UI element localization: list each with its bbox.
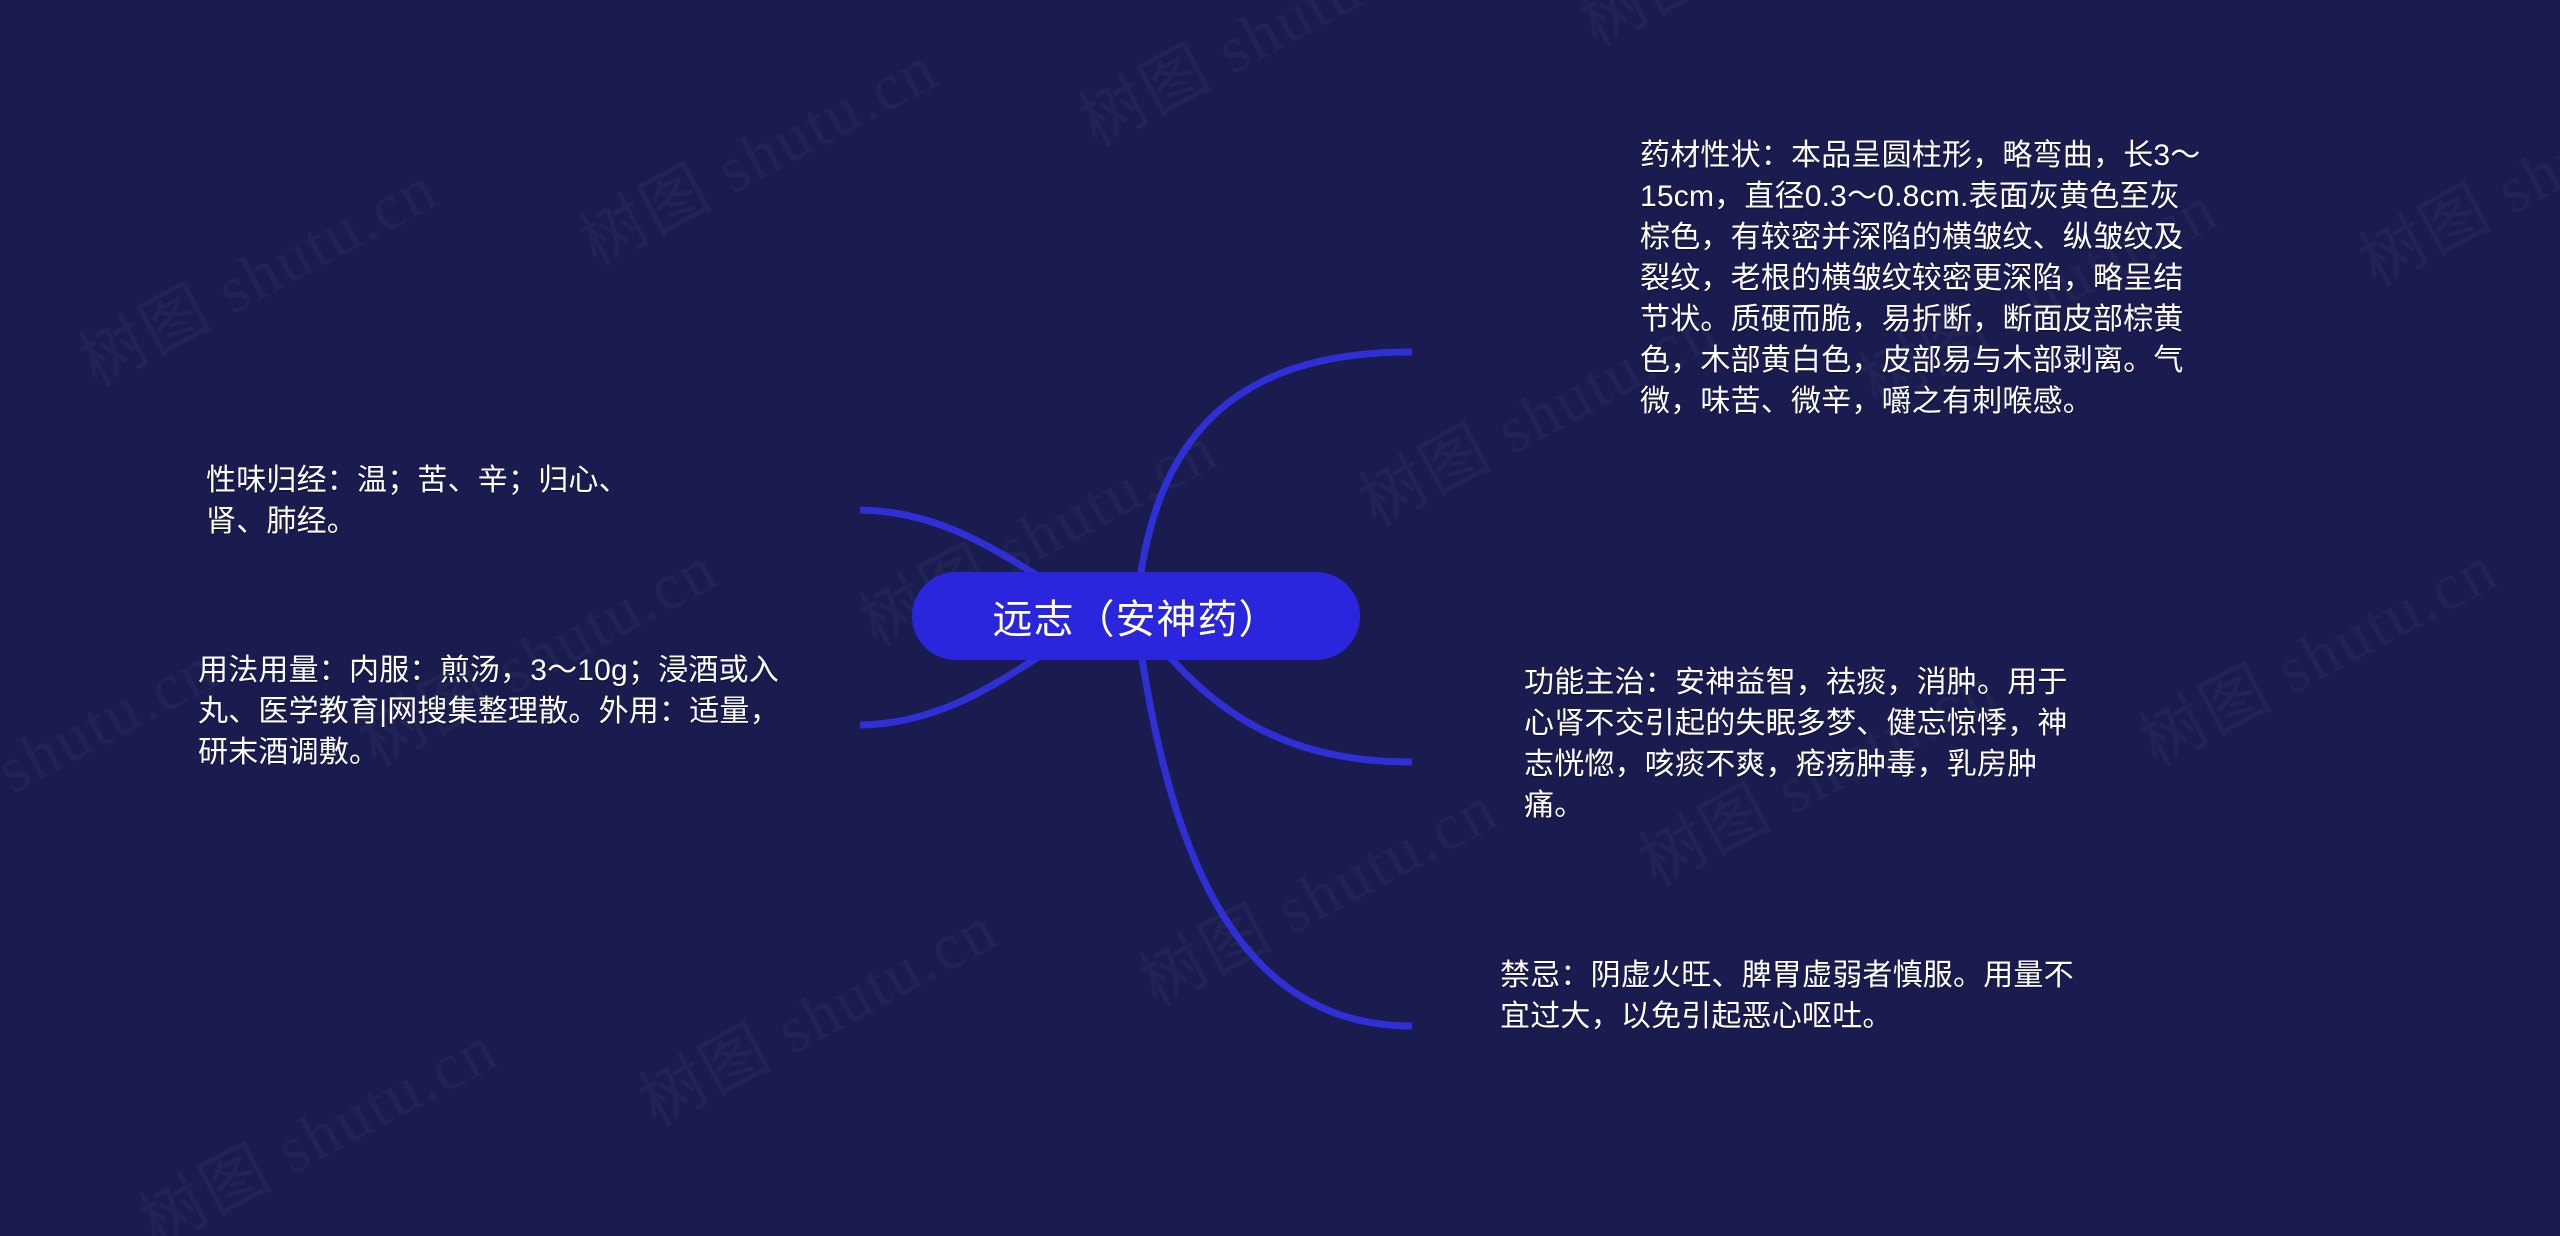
root-node[interactable]: 远志（安神药）	[912, 572, 1360, 660]
branch-node-xingwei-guijing[interactable]: 性味归经：温；苦、辛；归心、肾、肺经。	[206, 460, 676, 542]
watermark-text: 树图 shutu.cn	[560, 16, 951, 285]
watermark-text: 树图 shutu.cn	[620, 876, 1011, 1145]
watermark-text: 树图 shutu.cn	[1060, 0, 1451, 165]
watermark-text: 树图 shutu.cn	[0, 616, 231, 885]
watermark-text: 树图 shutu.cn	[1560, 0, 1951, 65]
connector-jinji	[1136, 616, 1412, 1026]
watermark-text: 树图 shutu.cn	[2120, 516, 2511, 785]
watermark-text: 树图 shutu.cn	[120, 996, 511, 1236]
watermark-text: 树图 shutu.cn	[2340, 36, 2560, 305]
branch-node-yongfa-yongliang[interactable]: 用法用量：内服：煎汤，3～10g；浸酒或入丸、医学教育|网搜集整理散。外用：适量…	[198, 650, 780, 773]
root-node-label: 远志（安神药）	[993, 587, 1280, 645]
watermark-text: 树图 shutu.cn	[60, 136, 451, 405]
branch-node-yaocai-xingzhuang[interactable]: 药材性状：本品呈圆柱形，略弯曲，长3～15cm，直径0.3～0.8cm.表面灰黄…	[1640, 135, 2210, 422]
branch-node-jinji[interactable]: 禁忌：阴虚火旺、脾胃虚弱者慎服。用量不宜过大，以免引起恶心呕吐。	[1500, 955, 2080, 1037]
mindmap-canvas: 树图 shutu.cn 树图 shutu.cn 树图 shutu.cn 树图 s…	[0, 0, 2560, 1236]
branch-node-gongneng-zhuzhi[interactable]: 功能主治：安神益智，祛痰，消肿。用于心肾不交引起的失眠多梦、健忘惊悸，神志恍惚，…	[1524, 662, 2084, 826]
watermark-text: 树图 shutu.cn	[1120, 756, 1511, 1025]
